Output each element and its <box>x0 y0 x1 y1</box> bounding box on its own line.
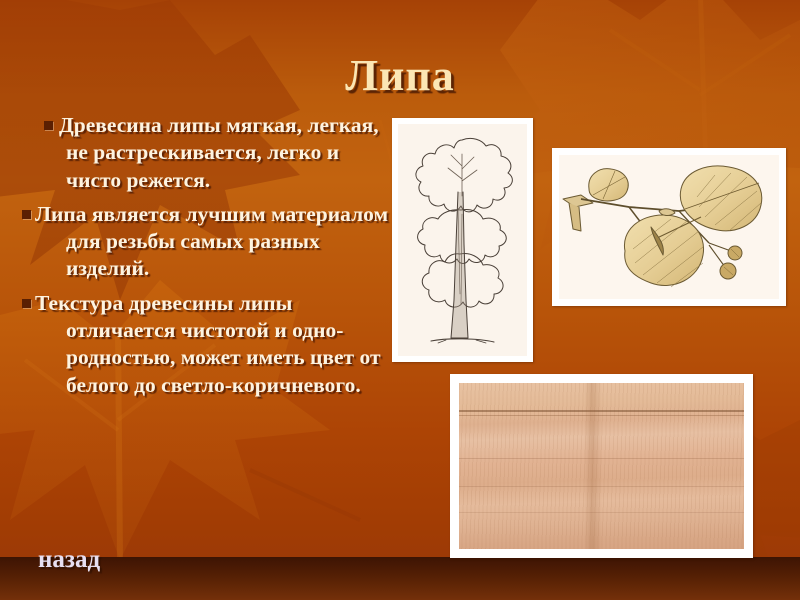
linden-tree-image-frame <box>392 118 533 362</box>
bullet-paragraph: Текстура древесины липы отличается чисто… <box>22 290 394 399</box>
linden-wood-texture-image-frame <box>450 374 753 558</box>
back-link[interactable]: назад <box>38 546 100 574</box>
linden-branch-drawing <box>559 155 779 299</box>
bottom-color-band <box>0 557 800 600</box>
paragraph-text: Липа является лучшим материалом для резь… <box>35 202 388 281</box>
bullet-paragraph: Липа является лучшим материалом для резь… <box>22 201 394 283</box>
square-bullet-icon <box>22 299 31 308</box>
slide-canvas: Липа Древесина липы мягкая, легкая, не р… <box>0 0 800 600</box>
linden-branch-image-frame <box>552 148 786 306</box>
square-bullet-icon <box>22 210 31 219</box>
paragraph-text: Древесина липы мягкая, легкая, не растре… <box>59 113 379 192</box>
linden-wood-texture <box>459 383 744 549</box>
bullet-paragraph: Древесина липы мягкая, легкая, не растре… <box>22 112 394 194</box>
paragraph-text: Текстура древесины липы отличается чисто… <box>35 291 381 397</box>
page-title: Липа <box>0 50 800 101</box>
square-bullet-icon <box>44 121 53 130</box>
wood-grain-shadow <box>584 383 602 549</box>
linden-tree-drawing <box>398 124 527 356</box>
body-text-block: Древесина липы мягкая, легкая, не растре… <box>22 112 394 406</box>
